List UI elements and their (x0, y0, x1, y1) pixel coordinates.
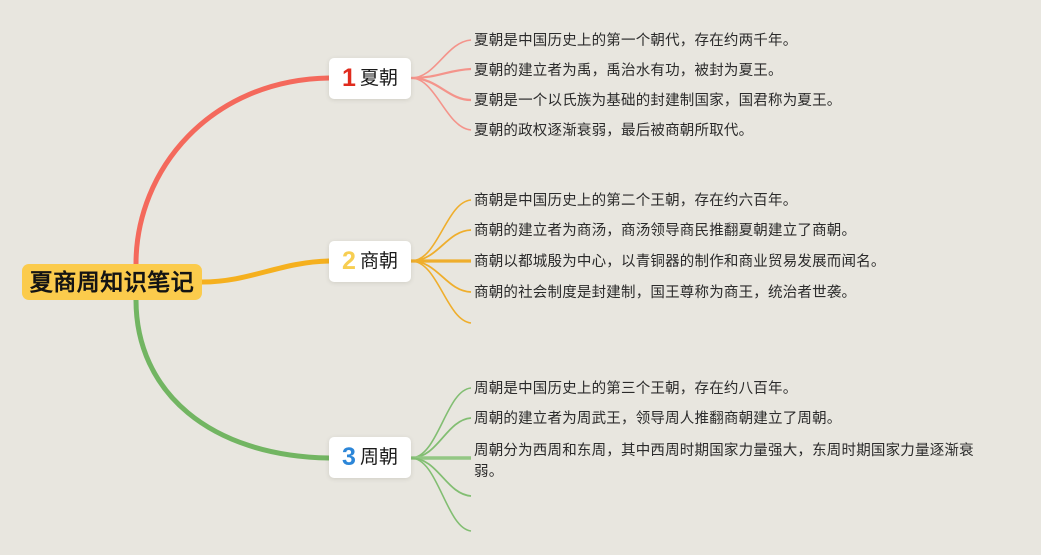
leaf-edge-1-4 (411, 78, 471, 130)
trunk-edge-1 (136, 78, 329, 264)
branch-index-3: 3 (342, 445, 356, 470)
leaf-edge-2-1 (411, 200, 471, 261)
branch-label-3: 周朝 (360, 448, 398, 467)
branch-node-shang[interactable]: 2 商朝 (329, 241, 411, 282)
leaf-item[interactable]: 周朝的建立者为周武王，领导周人推翻商朝建立了周朝。 (474, 409, 929, 430)
branch-node-xia[interactable]: 1 夏朝 (329, 58, 411, 99)
leaf-item[interactable]: 商朝的建立者为商汤，商汤领导商民推翻夏朝建立了商朝。 (474, 221, 984, 242)
leaf-edge-3-5 (411, 458, 471, 531)
branch-node-zhou[interactable]: 3 周朝 (329, 437, 411, 478)
leaf-item[interactable]: 夏朝是一个以氏族为基础的封建制国家，国君称为夏王。 (474, 91, 929, 112)
leaf-item[interactable]: 商朝以都城殷为中心，以青铜器的制作和商业贸易发展而闻名。 (474, 252, 984, 273)
leaf-edge-1-3 (411, 78, 471, 100)
leaf-item[interactable]: 周朝是中国历史上的第三个王朝，存在约八百年。 (474, 379, 929, 400)
root-node[interactable]: 夏商周知识笔记 (22, 264, 202, 300)
leaf-edge-2-5 (411, 261, 471, 323)
trunk-edge-3 (136, 300, 329, 458)
leaf-edge-1-1 (411, 40, 471, 78)
branch-index-2: 2 (342, 249, 356, 274)
trunk-edge-2 (202, 261, 329, 282)
leaf-edge-3-2 (411, 418, 471, 458)
leaf-item[interactable]: 夏朝的政权逐渐衰弱，最后被商朝所取代。 (474, 121, 929, 142)
root-node-label: 夏商周知识笔记 (30, 271, 195, 294)
leaf-item[interactable]: 商朝的社会制度是封建制，国王尊称为商王，统治者世袭。 (474, 283, 984, 304)
mindmap-canvas: 夏商周知识笔记 1 夏朝 夏朝是中国历史上的第一个朝代，存在约两千年。 夏朝的建… (0, 0, 1041, 555)
leaf-item[interactable]: 商朝是中国历史上的第二个王朝，存在约六百年。 (474, 191, 984, 212)
leaf-item[interactable]: 夏朝的建立者为禹，禹治水有功，被封为夏王。 (474, 61, 929, 82)
leaf-edge-2-2 (411, 230, 471, 261)
branch-label-1: 夏朝 (360, 69, 398, 88)
leaf-edge-1-2 (411, 69, 471, 78)
leaf-item[interactable]: 周朝分为西周和东周，其中西周时期国家力量强大，东周时期国家力量逐渐衰弱。 (474, 441, 984, 483)
leaf-edge-3-1 (411, 388, 471, 458)
leaf-edge-3-4 (411, 458, 471, 496)
leaf-edge-2-4 (411, 261, 471, 292)
leaf-item[interactable]: 夏朝是中国历史上的第一个朝代，存在约两千年。 (474, 31, 929, 52)
branch-index-1: 1 (342, 66, 356, 91)
branch-label-2: 商朝 (360, 252, 398, 271)
